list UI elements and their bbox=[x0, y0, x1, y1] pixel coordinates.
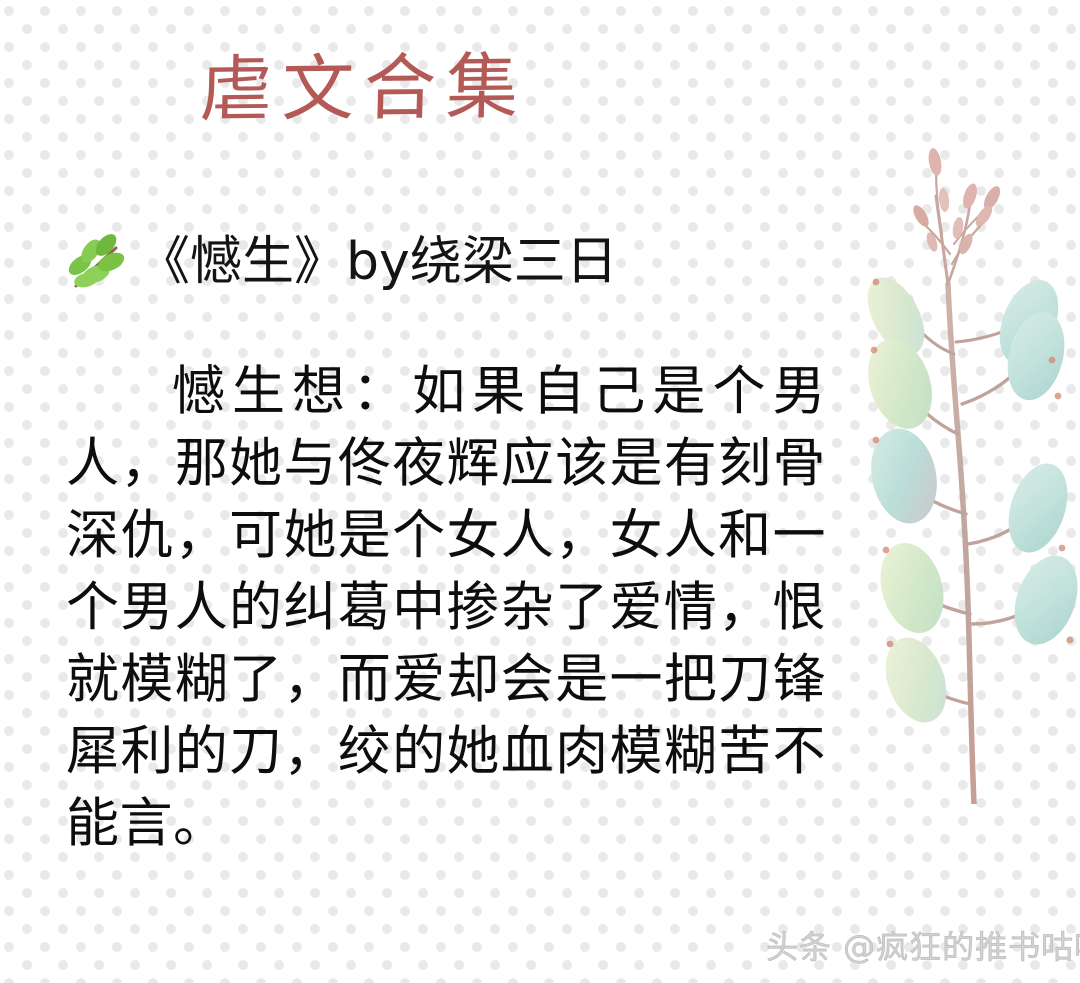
poster-canvas: 虐文合集 《憾生》by绕梁三日 憾生想：如果自己是个男人，那她与佟夜辉应该是有刻… bbox=[0, 0, 1080, 983]
book-title-text: 《憾生》by绕梁三日 bbox=[138, 233, 618, 293]
page-title: 虐文合集 bbox=[199, 50, 529, 125]
book-entry: 《憾生》by绕梁三日 bbox=[62, 232, 618, 294]
watercolor-eucalyptus-branch bbox=[866, 104, 1080, 804]
herb-leaf-icon bbox=[62, 232, 130, 294]
watermark: 头条 @疯狂的推书咕噜 bbox=[766, 928, 1080, 966]
excerpt-paragraph: 憾生想：如果自己是个男人，那她与佟夜辉应该是有刻骨深仇，可她是个女人，女人和一个… bbox=[66, 356, 826, 860]
